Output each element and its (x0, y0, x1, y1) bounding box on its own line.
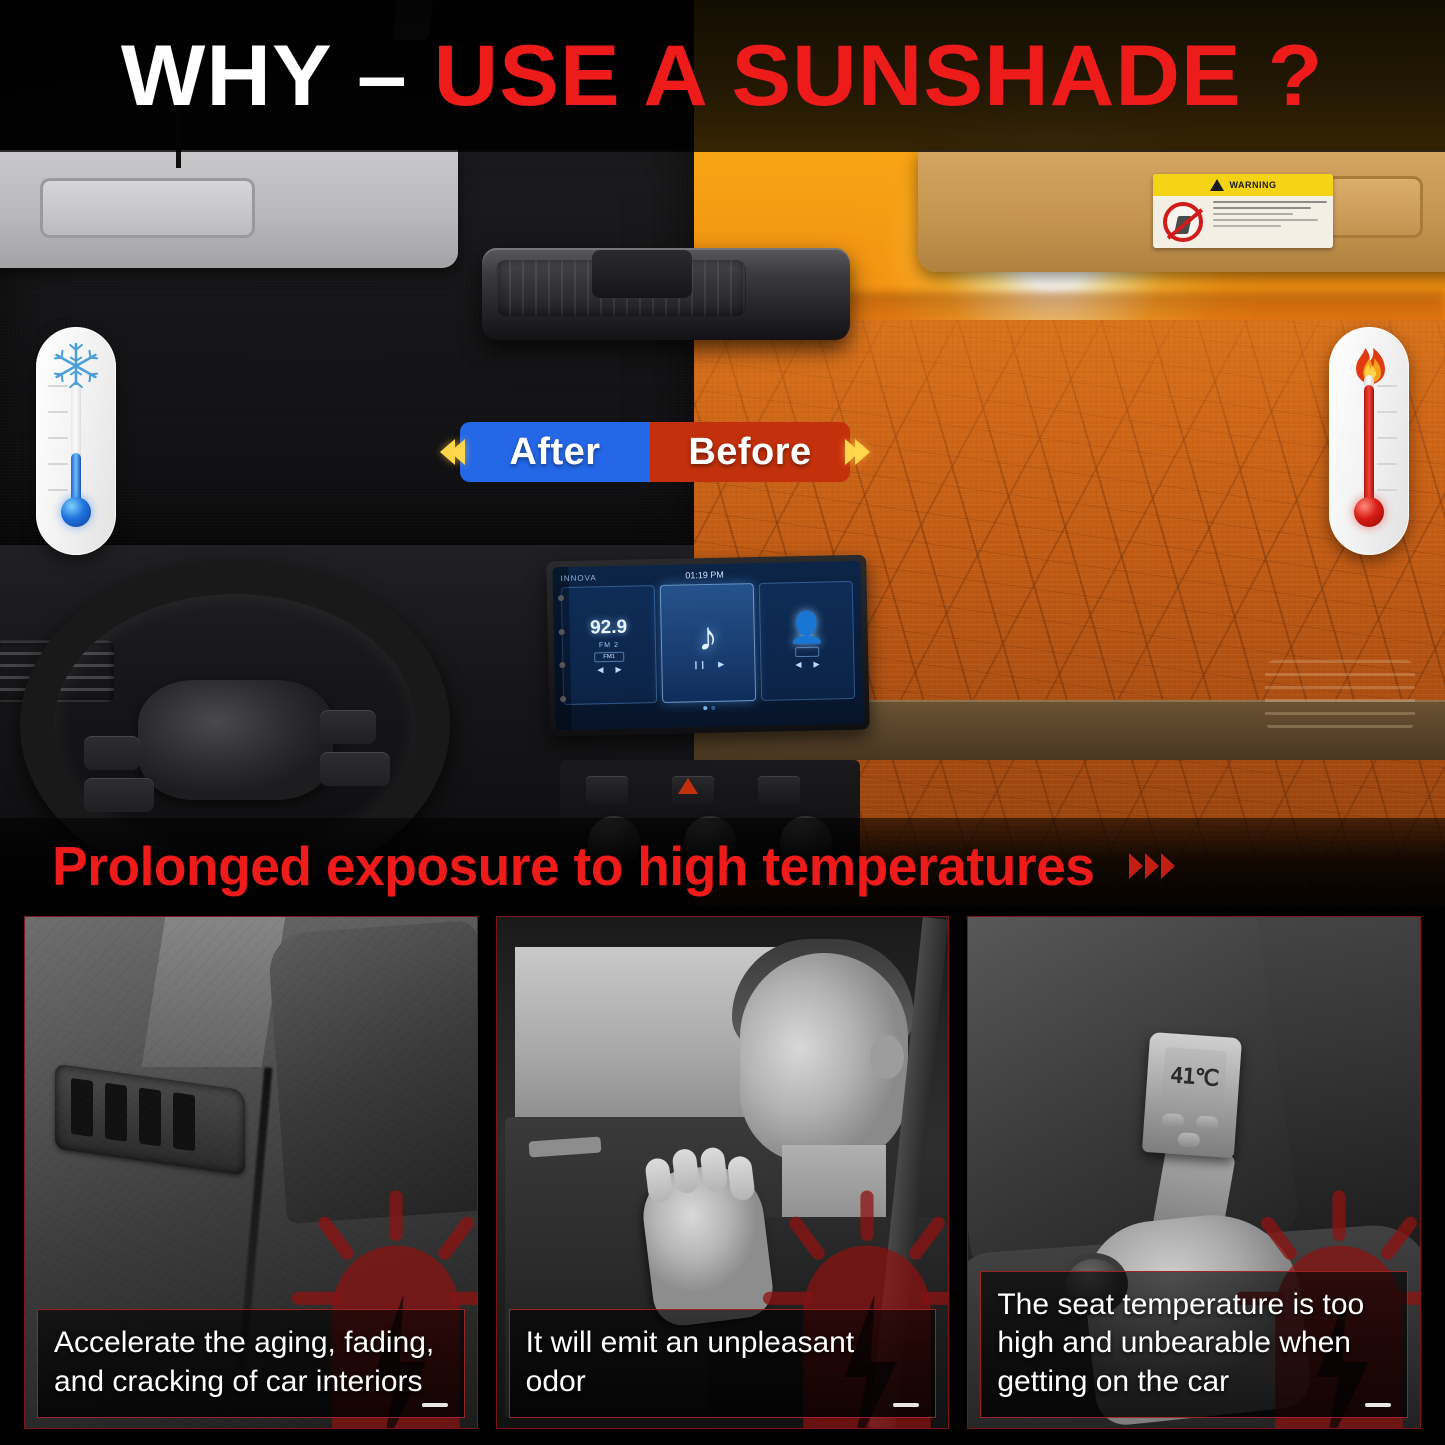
chevron-right-icon (1145, 853, 1159, 879)
warning-label-header: WARNING (1153, 174, 1333, 196)
infotainment-head-unit[interactable]: INNOVA 01:19 PM 92.9 FM 2 FM1 ◀ ▶ (546, 555, 870, 737)
media-controls[interactable]: ❙❙ ▶ (693, 660, 725, 670)
warning-text-line (1213, 201, 1327, 203)
left-chevrons (440, 439, 460, 465)
title-dash: – (357, 28, 408, 124)
next-contact-icon[interactable]: ▶ (813, 659, 819, 668)
radio-preset[interactable]: FM1 (594, 651, 624, 662)
caption-dash (422, 1403, 448, 1407)
chevron-right-icon (1161, 853, 1175, 879)
page-dot[interactable] (711, 706, 715, 710)
infotainment-screen[interactable]: INNOVA 01:19 PM 92.9 FM 2 FM1 ◀ ▶ (552, 561, 863, 730)
warning-text-line (1213, 225, 1281, 227)
radio-controls[interactable]: ◀ ▶ (597, 664, 621, 674)
warning-text-line (1213, 213, 1293, 215)
warning-text-line (1213, 207, 1311, 209)
steering-button-right-lower (320, 752, 390, 786)
caption-dash (1365, 1403, 1391, 1407)
phone-panel[interactable]: 👤 ◀ ▶ (759, 581, 855, 701)
steering-button-right-upper (320, 710, 376, 744)
hazard-triangle-icon (678, 778, 698, 794)
screen-page-dots[interactable] (563, 703, 855, 713)
card-caption-text: Accelerate the aging, fading, and cracki… (54, 1324, 448, 1401)
screen-side-buttons[interactable] (552, 567, 571, 730)
mirror-housing-box (592, 250, 692, 298)
right-chevrons (850, 439, 870, 465)
prev-track-icon[interactable]: ◀ (597, 665, 603, 674)
thermometer-bulb-cold (61, 497, 91, 527)
play-icon[interactable]: ▶ (718, 660, 724, 669)
screen-clock: 01:19 PM (685, 570, 724, 581)
card-caption-text: The seat temperature is too high and unb… (997, 1286, 1391, 1401)
warning-label-heading: WARNING (1230, 180, 1277, 190)
person-icon: 👤 (788, 613, 826, 644)
steering-wheel-hub (138, 680, 333, 800)
title-red-part: USE A SUNSHADE ? (434, 28, 1324, 124)
temperature-reading: 41℃ (1170, 1063, 1220, 1091)
radio-panel[interactable]: 92.9 FM 2 FM1 ◀ ▶ (561, 585, 657, 705)
warning-text-line (1213, 219, 1318, 221)
card-interior-aging: Accelerate the aging, fading, and cracki… (24, 916, 478, 1429)
rear-view-mirror (482, 248, 850, 340)
warning-label-text (1213, 196, 1333, 248)
steering-button-left-lower (84, 778, 154, 812)
radio-frequency: 92.9 (590, 616, 627, 639)
visor-mirror-slot (40, 178, 255, 238)
power-button-icon[interactable] (560, 696, 566, 702)
benefit-cards-row: Accelerate the aging, fading, and cracki… (0, 916, 1445, 1445)
infographic-page: WARNING (0, 0, 1445, 1445)
warning-triangle-icon (1210, 179, 1224, 191)
hot-thermometer (1329, 327, 1409, 555)
console-button-right (758, 776, 800, 804)
caption-dash (893, 1403, 919, 1407)
warning-icon-area (1153, 196, 1213, 248)
device-button-left (1162, 1113, 1185, 1129)
card-caption: It will emit an unpleasant odor (509, 1309, 937, 1418)
chevron-right-icon (1129, 853, 1143, 879)
screen-brand-label: INNOVA (560, 573, 596, 583)
next-track-icon[interactable]: ▶ (615, 664, 621, 673)
home-button-icon[interactable] (558, 595, 564, 601)
card-caption: The seat temperature is too high and unb… (980, 1271, 1408, 1418)
cold-thermometer (36, 327, 116, 555)
card-caption-text: It will emit an unpleasant odor (526, 1324, 920, 1401)
warning-label-body (1153, 196, 1333, 248)
radio-band: FM 2 (599, 641, 619, 648)
card-unpleasant-odor: It will emit an unpleasant odor (496, 916, 950, 1429)
media-panel[interactable]: ♪ ❙❙ ▶ (660, 583, 756, 703)
music-note-icon: ♪ (697, 617, 718, 657)
thermometer-lcd: 41℃ (1162, 1047, 1228, 1107)
page-title: WHY – USE A SUNSHADE ? (121, 33, 1323, 119)
thermometer-bulb-hot (1354, 497, 1384, 527)
no-child-seat-icon (1163, 202, 1203, 242)
before-after-badge: After Before (440, 418, 960, 486)
mid-headline-chevrons (1129, 853, 1175, 879)
infrared-thermometer-device: 41℃ (1142, 1032, 1242, 1158)
after-badge-label: After (460, 422, 650, 482)
screen-panels: 92.9 FM 2 FM1 ◀ ▶ ♪ ❙❙ ▶ (561, 581, 855, 705)
page-dot-active[interactable] (703, 706, 707, 710)
settings-button-icon[interactable] (559, 629, 565, 635)
phone-controls[interactable]: ◀ ▶ (795, 659, 819, 669)
airbag-warning-label: WARNING (1153, 174, 1333, 248)
sun-visor-left (0, 150, 458, 268)
device-button-center (1178, 1132, 1201, 1148)
device-button-right (1196, 1115, 1219, 1131)
before-badge-label: Before (650, 422, 850, 482)
mid-headline-text: Prolonged exposure to high temperatures (52, 834, 1094, 898)
volume-button-icon[interactable] (559, 662, 565, 668)
child-seat-glyph (1174, 216, 1192, 234)
chevron-right-icon (855, 439, 870, 465)
prev-contact-icon[interactable]: ◀ (795, 660, 801, 669)
chevron-left-icon (450, 439, 465, 465)
card-seat-temperature: 41℃ (967, 916, 1421, 1429)
air-vent-right (1265, 660, 1415, 730)
console-button-left (586, 776, 628, 804)
sun-visor-right: WARNING (918, 150, 1445, 272)
title-white-part: WHY (121, 28, 331, 124)
mid-headline-band: Prolonged exposure to high temperatures (0, 818, 1445, 914)
phone-chip[interactable] (795, 646, 820, 657)
steering-button-left-upper (84, 736, 140, 770)
screen-status-bar: INNOVA 01:19 PM (560, 567, 852, 583)
pause-icon[interactable]: ❙❙ (693, 660, 707, 669)
card-caption: Accelerate the aging, fading, and cracki… (37, 1309, 465, 1418)
title-band: WHY – USE A SUNSHADE ? (0, 0, 1445, 152)
